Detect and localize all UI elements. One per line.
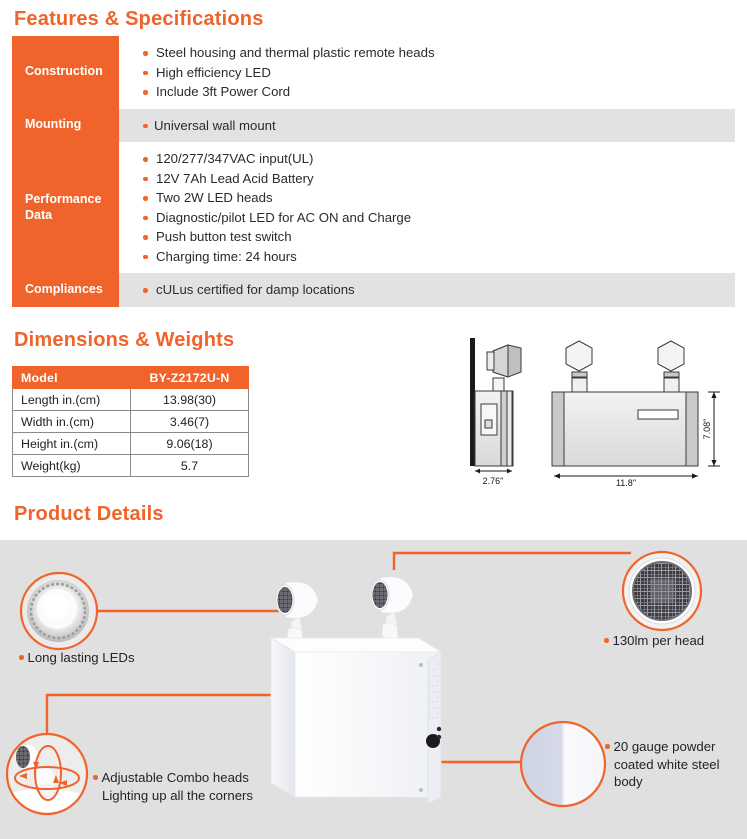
spec-label-line-1: Performance [25,192,101,206]
depth-dimension: 2.76" [475,469,512,486]
callout-circle-combo [7,734,87,814]
bullet-dot-icon [93,775,98,780]
dimension-name: Width in.(cm) [13,411,131,433]
connector-lumens [394,553,631,570]
spec-item: Universal wall mount [143,116,735,136]
spec-item: 120/277/347VAC input(UL) [143,149,735,169]
callout-leds-text: Long lasting LEDs [28,650,135,665]
spec-row-performance-data: Performance Data 120/277/347VAC input(UL… [12,142,735,273]
lamp-head-left [276,582,318,644]
spec-label-line-2: Data [25,208,52,222]
dimension-value: 13.98(30) [131,389,249,411]
features-section-title: Features & Specifications [14,8,264,31]
callout-steel-line-1: 20 gauge powder [614,739,716,754]
side-view-body [475,378,513,466]
spec-sheet-page: Features & Specifications Construction S… [0,0,747,839]
callout-steel-line-2: coated white steel [605,756,720,774]
table-row: Width in.(cm) 3.46(7) [13,411,249,433]
side-view-head [487,345,521,377]
front-view-head-right [658,341,684,392]
product-photo [271,577,441,804]
dimensions-weights-table: Model BY-Z2172U-N Length in.(cm) 13.98(3… [12,366,249,477]
bullet-dot-icon [604,638,609,643]
lamp-head-right [371,577,413,639]
dimension-name: Height in.(cm) [13,433,131,455]
dimension-value: 5.7 [131,455,249,477]
callout-circle-lumens [623,552,701,630]
table-row: Weight(kg) 5.7 [13,455,249,477]
spec-label-compliances: Compliances [12,273,119,307]
spec-item: Push button test switch [143,227,735,247]
callout-label-steel-body: 20 gauge powder coated white steel body [605,738,720,791]
callout-label-combo-heads: Adjustable Combo heads Lighting up all t… [93,769,253,804]
dimension-value: 9.06(18) [131,433,249,455]
bullet-dot-icon [19,655,24,660]
callout-label-leds: Long lasting LEDs [19,649,135,667]
spec-label-mounting: Mounting [12,109,119,143]
connector-steel [431,740,521,762]
front-view-head-left [566,341,592,392]
spec-body-mounting: Universal wall mount [119,109,735,143]
body-front-face [295,652,441,797]
connector-combo [47,625,298,734]
spec-item: Steel housing and thermal plastic remote… [143,43,735,63]
callout-lumens-text: 130lm per head [613,633,705,648]
table-row: Length in.(cm) 13.98(30) [13,389,249,411]
dimension-name: Weight(kg) [13,455,131,477]
column-header-model-value: BY-Z2172U-N [131,367,249,389]
callout-steel-line-3: body [605,773,720,791]
spec-item: High efficiency LED [143,63,735,83]
column-header-model: Model [13,367,131,389]
width-dimension: 11.8" [554,473,698,488]
spec-body-compliances: cULus certified for damp locations [119,273,735,307]
bullet-dot-icon [605,744,610,749]
body-left-face [271,638,295,797]
width-dimension-label: 11.8" [616,478,636,488]
depth-dimension-label: 2.76" [483,476,504,486]
features-specifications-table: Construction Steel housing and thermal p… [12,36,735,307]
table-header-row: Model BY-Z2172U-N [13,367,249,389]
spec-row-construction: Construction Steel housing and thermal p… [12,36,735,109]
dimension-value: 3.46(7) [131,411,249,433]
height-dimension: 7.08" [702,392,720,466]
table-row: Height in.(cm) 9.06(18) [13,433,249,455]
front-view-body [552,392,698,466]
callout-circle-leds [21,573,97,649]
spec-label-construction: Construction [12,36,119,109]
spec-item: Charging time: 24 hours [143,247,735,267]
body-top-face [271,638,441,652]
callout-label-lumens: 130lm per head [604,632,704,650]
spec-row-mounting: Mounting Universal wall mount [12,109,735,143]
spec-item: 12V 7Ah Lead Acid Battery [143,169,735,189]
height-dimension-label: 7.08" [702,419,712,440]
spec-body-performance-data: 120/277/347VAC input(UL) 12V 7Ah Lead Ac… [119,142,735,273]
wall-line [470,338,475,466]
spec-item: Include 3ft Power Cord [143,82,735,102]
dimensions-section-title: Dimensions & Weights [14,329,234,352]
callout-circle-steel [521,722,605,806]
spec-label-performance-data: Performance Data [12,142,119,273]
callout-combo-line-2: Lighting up all the corners [93,787,253,805]
dimension-name: Length in.(cm) [13,389,131,411]
callout-combo-line-1: Adjustable Combo heads [102,770,249,785]
spec-item: Diagnostic/pilot LED for AC ON and Charg… [143,208,735,228]
spec-body-construction: Steel housing and thermal plastic remote… [119,36,735,109]
product-details-section-title: Product Details [14,503,164,526]
spec-item: cULus certified for damp locations [143,280,735,300]
spec-item: Two 2W LED heads [143,188,735,208]
technical-drawing: 2.76" 11.8" [446,334,741,489]
spec-row-compliances: Compliances cULus certified for damp loc… [12,273,735,307]
